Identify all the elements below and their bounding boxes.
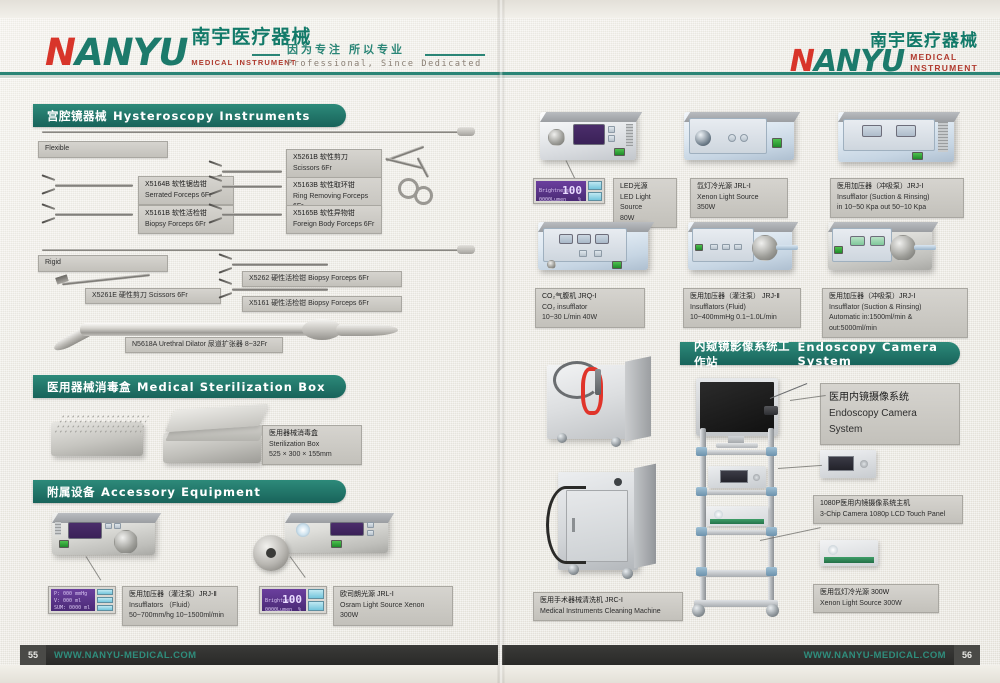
tagline-dash-left (252, 54, 280, 56)
device-led-top (540, 112, 642, 122)
lcd-insufflator-line1: P: 000 mmHg (54, 591, 87, 597)
sterilization-box-open (155, 405, 270, 470)
thumb-camera-host-screen (828, 456, 854, 471)
device-co2-display3 (595, 234, 609, 244)
thumb-xenon-300-port (828, 545, 838, 555)
lcd-led-key-up[interactable] (588, 181, 602, 190)
caption-osram-spec: 300W (340, 611, 446, 622)
cleaning-machine-black-hose (546, 486, 586, 564)
section-sterilization-cn: 医用器械消毒盒 (47, 379, 131, 395)
caption-urethral-dilator-text: N5618A Urethral Dilator 尿道扩张器 8~32Fr (132, 341, 267, 349)
device-led-power-led[interactable] (614, 148, 625, 156)
tagline-english: Professional, Since Dedicated (287, 59, 482, 69)
caption-flexible-scissors-cn: X5261B 软性剪刀 (293, 153, 375, 164)
lcd-led-sub: 0000Lumen (539, 197, 566, 201)
cleaning-machine-upper-caster-1 (557, 433, 567, 443)
lcd-osram-sub: 0000Lumen (265, 607, 292, 611)
cleaning-machine-spray-gun (595, 369, 601, 395)
caption-insufflator-fluid: 医用加压器（灌注泵）JRJ-Ⅱ Insufflators （Fluid） 50~… (122, 586, 238, 626)
trolley-joint-2r (766, 487, 777, 496)
caption-xenon-300-cn: 医用氙灯冷光源 300W (820, 588, 932, 599)
flexible-scissors-shaft (222, 170, 282, 173)
device-insufflator-suction-power[interactable] (912, 152, 923, 160)
caption-insuf-suction-1-en: Insufflator (Suction & Rinsing) (837, 193, 957, 204)
caption-sterilization-spec: 525 × 300 × 155mm (269, 450, 355, 461)
tagline-dash-right (425, 54, 485, 56)
brand-logo-right: 南宇医疗器械 NANYU MEDICAL INSTRUMENT (790, 26, 978, 77)
caption-camera-system-cn: 医用内镜摄像系统 (829, 390, 951, 406)
device-insufflator-btn1[interactable] (105, 523, 112, 529)
biopsy-forceps-shaft (55, 213, 133, 216)
section-hysteroscopy-en: Hysteroscopy Instruments (113, 109, 311, 123)
cleaning-machine-upper-side (625, 356, 651, 442)
page-number-left: 55 (20, 645, 46, 665)
dilator-handle (336, 324, 398, 336)
trolley-monitor-stand (728, 436, 744, 443)
trolley-monitor-screen (700, 382, 774, 432)
light-guide-center (266, 548, 276, 558)
device-insufflator-vent (55, 521, 61, 535)
rigid-biopsy-shaft-1 (232, 263, 328, 266)
section-camera-cn: 内窥镜影像系统工作站 (694, 338, 791, 370)
caption-insuf-fluid-2-spec: 10~400mmHg 0.1~1.0L/min (690, 313, 794, 324)
trolley-joint-1l (696, 447, 707, 456)
brand-wordmark-n: N (45, 31, 75, 74)
section-hysteroscopy-cn: 宫腔镜器械 (47, 108, 107, 124)
caption-co2-insufflator: CO₂气腹机 JRQ-Ⅰ CO₂ insufflator 10~30 L/min… (535, 288, 645, 328)
caption-led-en: LED Light Source (620, 193, 670, 214)
lcd-insufflator-line3: SUM: 0000 ml (54, 605, 90, 611)
caption-xenon-light-source: 氙灯冷光源 JRL-Ⅰ Xenon Light Source 350W (690, 178, 788, 218)
lcd-led-key-down[interactable] (588, 192, 602, 201)
caption-camera-host-en: 3-Chip Camera 1080p LCD Touch Panel (820, 510, 956, 521)
device-insufflator-pump-knob[interactable] (114, 530, 138, 554)
section-header-camera-system: 内窥镜影像系统工作站 Endoscopy Camera System (680, 342, 960, 365)
device-insufflator-suction-panel (843, 119, 935, 151)
serrated-forceps-tip (41, 179, 55, 190)
caption-xenon-300: 医用氙灯冷光源 300W Xenon Light Source 300W (813, 584, 939, 613)
caption-xenon-spec: 350W (697, 203, 781, 214)
camera-head (764, 406, 778, 415)
device-co2-insufflator (538, 222, 648, 270)
page-header: NANYU 南宇医疗器械 MEDICAL INSTRUMENT 因为专注 所以专… (0, 18, 1000, 72)
cleaning-machine-lower-caster-1 (568, 564, 579, 575)
device-insuf-fluid-2-pump[interactable] (752, 235, 778, 261)
caption-rigid-biopsy-1-text: X5262 硬性活检钳 Biopsy Forceps 6Fr (249, 275, 369, 283)
caption-foreign-body-cn: X5165B 软性异物钳 (293, 209, 375, 220)
caption-xenon-en: Xenon Light Source (697, 193, 781, 204)
biopsy-forceps-tip (41, 208, 55, 219)
trolley-joint-1r (766, 447, 777, 456)
caption-insufflator-fluid-spec: 50~700mm/hg 10~1500ml/min (129, 611, 231, 622)
caption-cleaning-machine: 医用手术器械清洗机 JRC-Ⅰ Medical Instruments Clea… (533, 592, 683, 621)
trolley-joint-4l (696, 567, 707, 576)
lcd-osram-value: 100 (282, 593, 302, 606)
lcd-osram-key-up[interactable] (308, 589, 324, 599)
device-insuf-suction-2-power[interactable] (834, 246, 843, 254)
caption-insufflator-fluid-2: 医用加压器（灌注泵） JRJ-Ⅱ Insufflators (Fluid) 10… (683, 288, 801, 328)
trolley-joint-3l (696, 527, 707, 536)
trolley-shelf-2 (698, 490, 774, 495)
caption-insuf-suction-2-spec: Automatic in:1500ml/min & out:5000ml/min (829, 313, 961, 334)
caption-sterilization-en: Sterilization Box (269, 440, 355, 451)
cleaning-machine-indicator (614, 478, 622, 486)
device-insuf-suction-2-tube (914, 245, 936, 250)
caption-camera-host-cn: 1080P医用内镜摄像系统主机 (820, 499, 956, 510)
cleaning-machine-upper-caster-2 (611, 437, 621, 447)
caption-insuf-fluid-2-en: Insufflators (Fluid) (690, 303, 794, 314)
caption-osram-en: Osram Light Source Xenon (340, 601, 446, 612)
caption-foreign-body-forceps: X5165B 软性异物钳 Foreign Body Forceps 6Fr (286, 205, 382, 234)
caption-osram-light: 欧司朗光源 JRL-Ⅰ Osram Light Source Xenon 300… (333, 586, 453, 626)
caption-co2-spec: 10~30 L/min 40W (542, 313, 638, 324)
trolley-light-source-port (714, 510, 723, 519)
trolley-joint-4r (766, 567, 777, 576)
trolley-camera-host (708, 466, 766, 488)
device-insufflator-suction-display1 (862, 125, 882, 137)
lcd-panel-osram: Brightness 100 0000Lumen % (259, 586, 327, 614)
ring-forceps-tip (208, 180, 222, 191)
caption-cleaning-machine-en: Medical Instruments Cleaning Machine (540, 607, 676, 618)
device-co2-display2 (577, 234, 591, 244)
light-guide-connector (253, 535, 289, 571)
device-insuf-fluid-2-power[interactable] (695, 244, 703, 251)
device-led-screen (573, 124, 605, 145)
rigid-scope-shaft (42, 249, 462, 251)
leader-line-osram (290, 556, 306, 578)
caption-osram-cn: 欧司朗光源 JRL-Ⅰ (340, 590, 446, 601)
device-osram-btn2[interactable] (367, 530, 374, 536)
device-co2-power-led[interactable] (612, 261, 622, 269)
section-camera-en: Endoscopy Camera System (797, 340, 960, 368)
device-insuf-suction-2-display1 (850, 236, 865, 246)
caption-ring-forceps-cn: X5163B 软性取环钳 (293, 181, 375, 192)
device-led-light-source (540, 112, 636, 160)
caption-cleaning-machine-cn: 医用手术器械清洗机 JRC-Ⅰ (540, 596, 676, 607)
flexible-scope-shaft (42, 131, 462, 133)
device-insufflator-power-led[interactable] (59, 540, 69, 548)
caption-insufflator-fluid-en: Insufflators （Fluid） (129, 601, 231, 612)
group-label-flexible: Flexible (38, 141, 168, 158)
flexible-scissors-tip (208, 165, 222, 176)
caption-rigid-scissors-text: X5261E 硬性剪刀 Scissors 6Fr (92, 292, 188, 300)
section-header-hysteroscopy: 宫腔镜器械 Hysteroscopy Instruments (33, 104, 346, 127)
lcd-key-down[interactable] (97, 597, 113, 603)
section-accessory-en: Accessory Equipment (101, 485, 261, 499)
caption-camera-system-en: Endoscopy Camera System (829, 406, 951, 438)
device-led-btn1[interactable] (608, 126, 615, 133)
caption-sterilization-cn: 医用器械消毒盒 (269, 429, 355, 440)
device-led-vent (626, 124, 633, 146)
endoscopy-trolley (690, 378, 816, 618)
lcd-screen-osram: Brightness 100 0000Lumen % (262, 589, 306, 611)
trolley-base (694, 600, 778, 607)
caption-insufflator-suction-2: 医用加压器（冲吸泵）JRJ-Ⅰ Insufflator (Suction & R… (822, 288, 968, 338)
section-header-accessory: 附属设备 Accessory Equipment (33, 480, 346, 503)
caption-xenon-cn: 氙灯冷光源 JRL-Ⅰ (697, 182, 781, 193)
trolley-joint-3r (766, 527, 777, 536)
device-led-btn2[interactable] (608, 135, 615, 142)
device-insuf-suction-2-pump[interactable] (890, 235, 916, 261)
footer-url-left[interactable]: WWW.NANYU-MEDICAL.COM (54, 645, 196, 665)
caption-led-cn: LED光源 (620, 182, 670, 193)
lcd-key-set[interactable] (97, 605, 113, 611)
lcd-screen-led: Brightness 100 0000Lumen % (536, 181, 586, 201)
catalog-page: NANYU 南宇医疗器械 MEDICAL INSTRUMENT 因为专注 所以专… (0, 0, 1000, 683)
dilator-shaft (80, 323, 310, 336)
device-osram-light-source (285, 513, 388, 553)
page-edge-bottom (0, 665, 1000, 683)
trolley-monitor-base (716, 443, 758, 448)
device-insuf-fluid-2-btn1[interactable] (710, 244, 718, 250)
cleaning-machine-lower-caster-2 (622, 568, 633, 579)
device-xenon-power-led[interactable] (772, 138, 782, 148)
device-osram-btn1[interactable] (367, 522, 374, 528)
trolley-camera-host-knob[interactable] (753, 474, 760, 481)
lcd-osram-key-down[interactable] (308, 601, 324, 611)
device-insuf-suction-2-display2 (870, 236, 885, 246)
caption-led-light-source: LED光源 LED Light Source 80W (613, 178, 677, 228)
caption-co2-cn: CO₂气腹机 JRQ-Ⅰ (542, 292, 638, 303)
caption-foreign-body-en: Foreign Body Forceps 6Fr (293, 220, 375, 231)
thumb-camera-host (820, 450, 876, 478)
device-insufflator-suction-2 (828, 222, 932, 270)
section-header-sterilization: 医用器械消毒盒 Medical Sterilization Box (33, 375, 346, 398)
group-label-flexible-text: Flexible (45, 145, 69, 153)
ring-forceps-shaft (222, 185, 282, 188)
trolley-shelf-1 (698, 450, 774, 455)
brand-right-sub1: MEDICAL (910, 52, 978, 63)
brand-logo-left: NANYU 南宇医疗器械 MEDICAL INSTRUMENT (45, 28, 311, 70)
trolley-light-source-stripe (710, 519, 764, 524)
trolley-light-source (706, 506, 768, 526)
device-osram-power-led[interactable] (331, 540, 342, 548)
device-led-knob[interactable] (548, 129, 565, 146)
rigid-instrument-ring-2 (414, 186, 433, 205)
lcd-keypad-led[interactable] (588, 181, 602, 201)
flexible-scope-handle (457, 127, 475, 136)
trolley-joint-2l (696, 487, 707, 496)
trolley-caster-left (692, 604, 705, 617)
lcd-key-up[interactable] (97, 589, 113, 595)
caption-endoscopy-camera-system: 医用内镜摄像系统 Endoscopy Camera System (820, 383, 960, 445)
device-insuf-fluid-2-tube (776, 245, 798, 250)
thumb-xenon-300-stripe (824, 557, 874, 563)
lcd-insufflator-line2: V: 000 ml (54, 598, 81, 604)
group-label-rigid-text: Rigid (45, 259, 61, 267)
cleaning-machine-upper (535, 355, 663, 453)
rigid-scope-handle (457, 245, 475, 254)
device-insufflator-suction-vent (938, 122, 948, 152)
caption-co2-en: CO₂ insufflator (542, 303, 638, 314)
caption-insuf-suction-1-cn: 医用加压器（冲吸泵）JRJ-Ⅰ (837, 182, 957, 193)
footer-url-right[interactable]: WWW.NANYU-MEDICAL.COM (804, 645, 946, 665)
lcd-keypad-osram[interactable] (308, 589, 324, 611)
caption-insuf-fluid-2-cn: 医用加压器（灌注泵） JRJ-Ⅱ (690, 292, 794, 303)
foreign-body-forceps-tip (208, 208, 222, 219)
device-co2-display1 (559, 234, 573, 244)
brand-wordmark: NANYU (45, 35, 187, 70)
rigid-scissors-shaft (62, 273, 150, 285)
thumb-camera-host-knob[interactable] (860, 460, 868, 468)
group-label-rigid: Rigid (38, 255, 168, 272)
header-divider-highlight (0, 78, 1000, 79)
device-xenon-btn1[interactable] (728, 134, 736, 142)
trolley-camera-host-screen (720, 470, 748, 483)
page-number-right: 56 (954, 645, 980, 665)
device-co2-btn2[interactable] (594, 250, 602, 257)
caption-insuf-suction-2-cn: 医用加压器（冲吸泵）JRJ-Ⅰ (829, 292, 961, 303)
device-insufflator-suction-display2 (896, 125, 916, 137)
caption-insuf-suction-1-spec: in 10~50 Kpa out 50~10 Kpa (837, 203, 957, 214)
caption-insuf-suction-2-en: Insufflator (Suction & Rinsing) (829, 303, 961, 314)
lcd-panel-insufflator: P: 000 mmHg V: 000 ml SUM: 0000 ml (48, 586, 116, 614)
rigid-biopsy-tip-1 (218, 258, 232, 269)
caption-camera-host: 1080P医用内镜摄像系统主机 3-Chip Camera 1080p LCD … (813, 495, 963, 524)
lcd-led-unit: % (578, 197, 581, 201)
lcd-screen-insufflator: P: 000 mmHg V: 000 ml SUM: 0000 ml (51, 589, 95, 611)
serrated-forceps-shaft (55, 184, 133, 187)
thumb-xenon-300 (820, 540, 878, 566)
device-xenon-light-port (695, 130, 711, 146)
device-insuf-fluid-2-btn2[interactable] (722, 244, 730, 250)
caption-sterilization-box: 医用器械消毒盒 Sterilization Box 525 × 300 × 15… (262, 425, 362, 465)
device-co2-btn1[interactable] (579, 250, 587, 257)
cleaning-machine-lower-side (634, 464, 656, 569)
lcd-panel-led: Brightness 100 0000Lumen % (533, 178, 605, 204)
rigid-biopsy-tip-2 (218, 283, 232, 294)
rigid-biopsy-shaft-2 (232, 288, 328, 291)
device-insufflator-suction-1 (838, 112, 954, 162)
device-insufflator-fluid-2 (688, 222, 792, 270)
page-edge-top (0, 0, 1000, 18)
device-osram-light-port (296, 523, 310, 537)
caption-urethral-dilator: N5618A Urethral Dilator 尿道扩张器 8~32Fr (125, 337, 283, 353)
leader-line-insufflator (86, 556, 102, 580)
caption-xenon-300-en: Xenon Light Source 300W (820, 599, 932, 610)
trolley-caster-right (766, 604, 779, 617)
trolley-shelf-4 (698, 570, 774, 577)
lcd-led-value: 100 (562, 184, 582, 197)
cleaning-machine-lower (548, 460, 668, 585)
device-co2-gas-port (547, 260, 556, 269)
book-spine (497, 0, 505, 683)
device-insuf-fluid-2-btn3[interactable] (734, 244, 742, 250)
section-sterilization-en: Medical Sterilization Box (137, 380, 326, 394)
caption-flexible-scissors-en: Scissors 6Fr (293, 164, 375, 175)
lcd-keypad-insufflator[interactable] (97, 589, 113, 611)
sterilization-box-lid-1 (52, 414, 150, 434)
device-xenon-light-source (684, 112, 794, 160)
device-osram-screen (330, 522, 364, 536)
caption-rigid-biopsy-1: X5262 硬性活检钳 Biopsy Forceps 6Fr (242, 271, 402, 287)
caption-flexible-scissors: X5261B 软性剪刀 Scissors 6Fr (286, 149, 382, 178)
brand-wordmark-anyu: ANYU (75, 31, 187, 74)
section-accessory-cn: 附属设备 (47, 484, 95, 500)
lcd-osram-unit: % (298, 607, 301, 611)
caption-insufflator-fluid-cn: 医用加压器（灌注泵）JRJ-Ⅱ (129, 590, 231, 601)
device-xenon-btn2[interactable] (740, 134, 748, 142)
device-insufflator-screen (68, 522, 102, 539)
device-insufflator-btn2[interactable] (114, 523, 121, 529)
foreign-body-forceps-shaft (222, 213, 282, 216)
sterilization-box-closed (45, 410, 150, 468)
trolley-shelf-3 (698, 530, 774, 535)
device-insufflator-fluid (52, 513, 155, 555)
caption-insufflator-suction-1: 医用加压器（冲吸泵）JRJ-Ⅰ Insufflator (Suction & R… (830, 178, 964, 218)
